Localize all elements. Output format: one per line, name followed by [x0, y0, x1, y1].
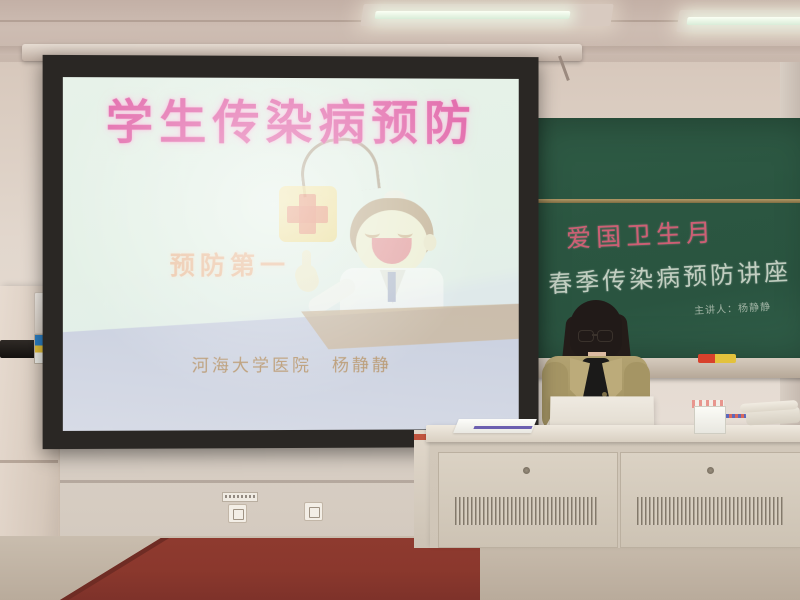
power-outlet-right[interactable]: [304, 502, 323, 521]
hair-top: [570, 300, 622, 358]
glasses-left-lens-icon: [578, 330, 594, 342]
power-outlet-left[interactable]: [228, 504, 247, 523]
slide-title: 学生传染病预防: [75, 99, 507, 147]
desk-lock-icon[interactable]: [523, 467, 530, 474]
desk-vent-grille: [455, 497, 597, 525]
ceiling-light-left: [360, 4, 613, 26]
chalk-box[interactable]: [698, 354, 736, 363]
wall-sign: [222, 492, 258, 502]
blackboard-trim-line: [530, 199, 800, 203]
doctor-tie: [388, 272, 396, 302]
projection-screen-frame: 学生传染病预防 预防第一 河海大学医院 杨静静: [43, 55, 539, 449]
ac-seam: [0, 460, 62, 463]
fluorescent-tube-icon: [686, 17, 800, 25]
fluorescent-tube-icon: [374, 11, 570, 19]
doctor-ear: [424, 234, 437, 251]
glasses-bridge-icon: [592, 334, 597, 336]
desk-door-left[interactable]: [438, 452, 618, 548]
desk-lock-icon[interactable]: [707, 467, 714, 474]
slide-subtitle: 预防第一: [170, 246, 290, 282]
slide-footer-text: 河海大学医院 杨静静: [63, 350, 519, 376]
first-aid-kit-icon: [279, 186, 337, 242]
desk-door-right[interactable]: [620, 452, 800, 548]
glasses-right-lens-icon: [597, 330, 613, 342]
paper-accent-line: [473, 426, 532, 429]
doctor-pointing-finger: [302, 250, 311, 270]
doctor-eye-left: [365, 228, 380, 238]
projection-screen: 学生传染病预防 预防第一 河海大学医院 杨静静: [63, 77, 519, 431]
desk-vent-grille: [637, 497, 783, 525]
doctor-eye-right: [398, 228, 413, 238]
blackboard-text-red: 爱国卫生月: [565, 213, 716, 256]
ceiling-light-right: [676, 10, 800, 32]
classroom-photo: 爱国卫生月 春季传染病预防讲座 主讲人：杨静静: [0, 0, 800, 600]
small-white-box[interactable]: [694, 406, 726, 434]
